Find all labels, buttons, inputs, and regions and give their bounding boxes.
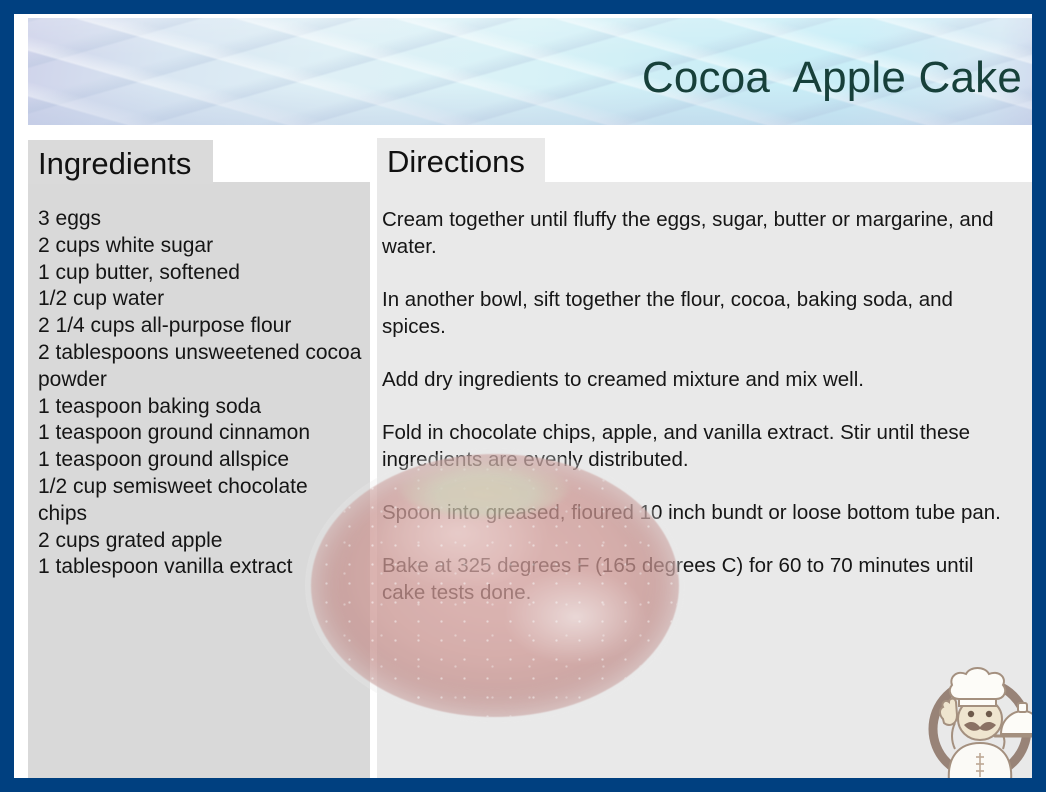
list-item: 1 tablespoon vanilla extract	[38, 554, 362, 581]
page-title: Cocoa Apple Cake	[642, 54, 1022, 102]
list-item: Cream together until fluffy the eggs, su…	[382, 206, 1012, 260]
list-item: In another bowl, sift together the flour…	[382, 286, 1012, 340]
list-item: 1 teaspoon ground cinnamon	[38, 420, 362, 447]
list-item: 1/2 cup semisweet chocolate chips	[38, 474, 362, 528]
list-item: 1 teaspoon baking soda	[38, 394, 362, 421]
list-item: Bake at 325 degrees F (165 degrees C) fo…	[382, 552, 1012, 606]
list-item: 1/2 cup water	[38, 286, 362, 313]
list-item: 2 cups white sugar	[38, 233, 362, 260]
recipe-slide: Cocoa Apple Cake Ingredients 3 eggs 2 cu…	[0, 0, 1046, 792]
chef-logo	[919, 657, 1041, 789]
ingredients-panel: 3 eggs 2 cups white sugar 1 cup butter, …	[28, 182, 370, 789]
list-item: 1 teaspoon ground allspice	[38, 447, 362, 474]
list-item: 1 cup butter, softened	[38, 260, 362, 287]
header-banner: Cocoa Apple Cake	[28, 18, 1046, 125]
list-item: 2 tablespoons unsweetened cocoa powder	[38, 340, 362, 394]
list-item: 2 cups grated apple	[38, 528, 362, 555]
list-item: Add dry ingredients to creamed mixture a…	[382, 366, 1012, 393]
list-item: 3 eggs	[38, 206, 362, 233]
ingredients-heading: Ingredients	[28, 140, 213, 184]
directions-list: Cream together until fluffy the eggs, su…	[382, 206, 1012, 606]
list-item: Fold in chocolate chips, apple, and vani…	[382, 419, 1012, 473]
ingredients-list: 3 eggs 2 cups white sugar 1 cup butter, …	[38, 206, 362, 581]
list-item: 2 1/4 cups all-purpose flour	[38, 313, 362, 340]
directions-heading: Directions	[377, 138, 545, 183]
list-item: Spoon into greased, floured 10 inch bund…	[382, 499, 1012, 526]
